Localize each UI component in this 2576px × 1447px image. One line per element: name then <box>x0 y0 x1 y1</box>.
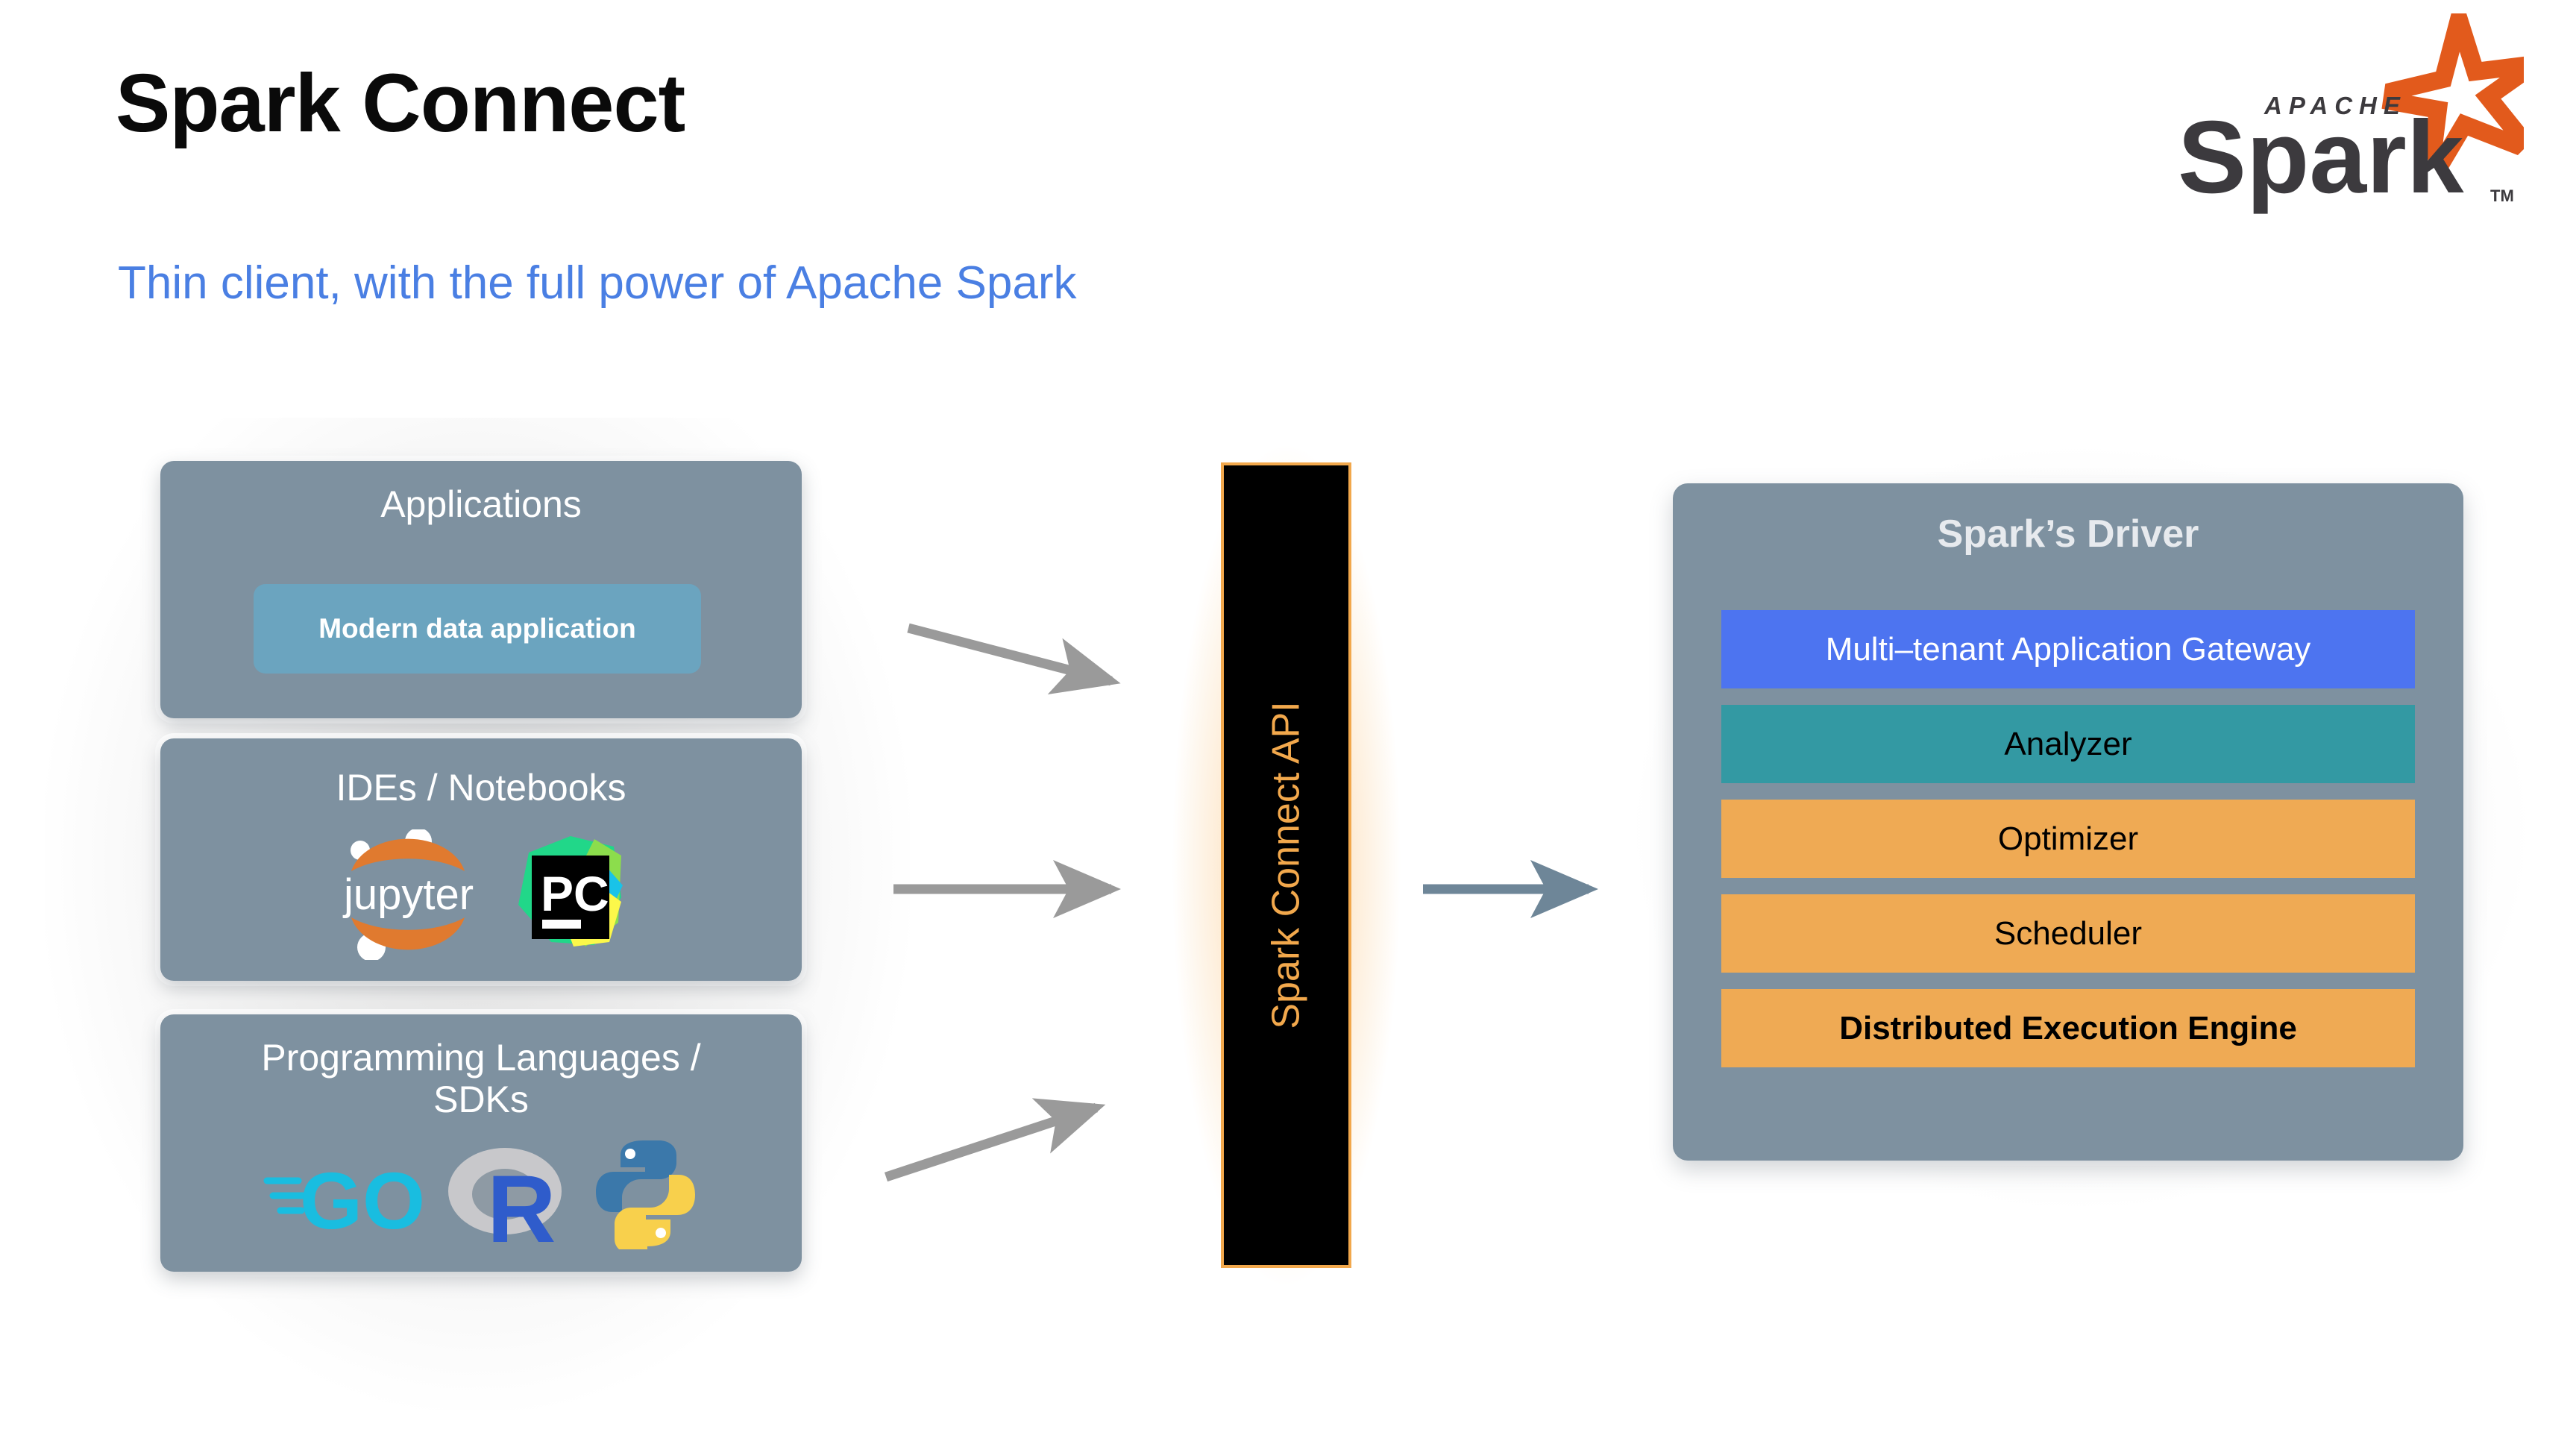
spark-driver-panel[interactable]: Spark’s Driver Multi–tenant Application … <box>1673 483 2463 1161</box>
driver-row-scheduler[interactable]: Scheduler <box>1721 894 2415 973</box>
driver-row-gateway[interactable]: Multi–tenant Application Gateway <box>1721 610 2415 688</box>
driver-panel-title: Spark’s Driver <box>1673 483 2463 556</box>
card-programming-languages-sdks[interactable]: Programming Languages / SDKs GO R <box>160 1014 802 1272</box>
card-sdks-title: Programming Languages / SDKs <box>160 1014 802 1120</box>
jupyter-icon: jupyter <box>338 829 480 964</box>
pycharm-icon: PC <box>505 833 624 960</box>
arrow-sdks-to-api <box>886 1108 1096 1177</box>
spark-connect-api-bar[interactable]: Spark Connect API <box>1221 462 1351 1268</box>
apache-spark-logo: APACHE Spark TM <box>2151 13 2524 215</box>
card-applications[interactable]: Applications Modern data application <box>160 461 802 718</box>
card-applications-title: Applications <box>160 461 802 525</box>
card-ides-notebooks[interactable]: IDEs / Notebooks jupyter PC <box>160 738 802 981</box>
driver-row-analyzer[interactable]: Analyzer <box>1721 705 2415 783</box>
r-language-icon: R <box>444 1137 571 1253</box>
svg-text:R: R <box>487 1156 556 1249</box>
page-title: Spark Connect <box>116 56 685 151</box>
driver-row-optimizer[interactable]: Optimizer <box>1721 800 2415 878</box>
golang-icon: GO <box>263 1145 423 1246</box>
svg-text:PC: PC <box>541 866 609 921</box>
spark-connect-api-label: Spark Connect API <box>1264 701 1309 1029</box>
card-sdks-title-line2: SDKs <box>433 1079 529 1120</box>
jupyter-wordmark: jupyter <box>342 870 474 919</box>
svg-text:TM: TM <box>2490 186 2514 205</box>
page-subtitle: Thin client, with the full power of Apac… <box>118 257 1076 310</box>
svg-text:Spark: Spark <box>2178 100 2464 215</box>
modern-data-application-pill[interactable]: Modern data application <box>254 584 701 674</box>
python-icon <box>591 1137 700 1253</box>
svg-text:GO: GO <box>300 1155 423 1242</box>
driver-row-distributed-execution-engine[interactable]: Distributed Execution Engine <box>1721 989 2415 1067</box>
card-sdks-title-line1: Programming Languages / <box>261 1037 700 1079</box>
card-ides-title: IDEs / Notebooks <box>160 738 802 809</box>
arrow-applications-to-api <box>908 628 1111 681</box>
driver-rows-list: Multi–tenant Application Gateway Analyze… <box>1721 610 2415 1067</box>
